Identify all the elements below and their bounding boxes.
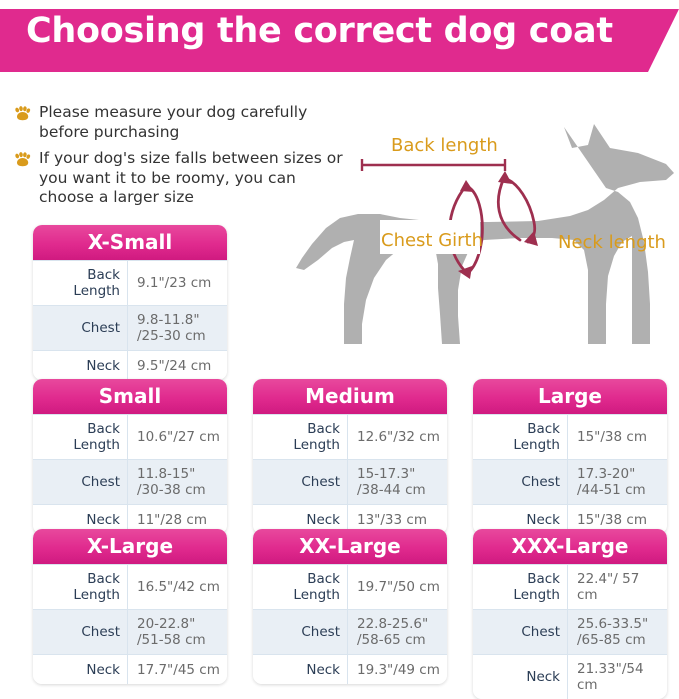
row-value: 19.3"/49 cm: [348, 655, 447, 684]
back-length-measure: [362, 159, 505, 171]
row-label: Back Length: [473, 415, 568, 459]
row-value: 17.7"/45 cm: [128, 655, 227, 684]
row-label: Chest: [473, 460, 568, 504]
row-value: 22.4"/ 57 cm: [568, 565, 667, 609]
table-row: Back Length 15"/38 cm: [473, 414, 667, 459]
row-value-line: 15-17.3": [357, 466, 426, 482]
row-label: Chest: [473, 610, 568, 654]
row-value: 12.6"/32 cm: [348, 415, 447, 459]
table-row: Chest 15-17.3" /38-44 cm: [253, 459, 447, 504]
row-label: Chest: [33, 306, 128, 350]
size-table-large: Large Back Length 15"/38 cm Chest 17.3-2…: [473, 379, 667, 534]
row-value-line: /30-38 cm: [137, 482, 206, 498]
row-value: 10.6"/27 cm: [128, 415, 227, 459]
row-label: Neck: [33, 655, 128, 684]
back-length-label: Back length: [391, 135, 498, 156]
row-value: 15-17.3" /38-44 cm: [348, 460, 447, 504]
size-table-header: X-Small: [33, 225, 227, 260]
size-table-header: XXX-Large: [473, 529, 667, 564]
size-table-header: X-Large: [33, 529, 227, 564]
row-value: 19.7"/50 cm: [348, 565, 447, 609]
size-table-xsmall: X-Small Back Length 9.1"/23 cm Chest 9.8…: [33, 225, 227, 380]
page-title: Choosing the correct dog coat: [26, 11, 613, 51]
table-row: Chest 25.6-33.5" /65-85 cm: [473, 609, 667, 654]
row-value-line: 22.8-25.6": [357, 616, 428, 632]
table-row: Neck 21.33"/54 cm: [473, 654, 667, 699]
table-row: Neck 9.5"/24 cm: [33, 350, 227, 380]
row-label: Chest: [253, 610, 348, 654]
size-table-xlarge: X-Large Back Length 16.5"/42 cm Chest 20…: [33, 529, 227, 684]
table-row: Chest 20-22.8" /51-58 cm: [33, 609, 227, 654]
row-value: 20-22.8" /51-58 cm: [128, 610, 227, 654]
neck-length-arrowhead: [498, 171, 512, 184]
size-table-header: Large: [473, 379, 667, 414]
row-value: 9.1"/23 cm: [128, 261, 227, 305]
table-row: Neck 17.7"/45 cm: [33, 654, 227, 684]
size-table-header: Medium: [253, 379, 447, 414]
row-value: 16.5"/42 cm: [128, 565, 227, 609]
table-row: Chest 22.8-25.6" /58-65 cm: [253, 609, 447, 654]
size-table-xxlarge: XX-Large Back Length 19.7"/50 cm Chest 2…: [253, 529, 447, 684]
size-table-medium: Medium Back Length 12.6"/32 cm Chest 15-…: [253, 379, 447, 534]
row-label: Back Length: [253, 415, 348, 459]
paw-print-icon: [14, 152, 31, 167]
row-label: Back Length: [33, 415, 128, 459]
size-table-small: Small Back Length 10.6"/27 cm Chest 11.8…: [33, 379, 227, 534]
table-row: Back Length 22.4"/ 57 cm: [473, 564, 667, 609]
row-value-line: /44-51 cm: [577, 482, 646, 498]
row-label: Neck: [253, 655, 348, 684]
row-value-line: 9.8-11.8": [137, 312, 206, 328]
table-row: Back Length 12.6"/32 cm: [253, 414, 447, 459]
note-text: Please measure your dog carefully before…: [39, 103, 307, 141]
table-row: Neck 19.3"/49 cm: [253, 654, 447, 684]
table-row: Back Length 9.1"/23 cm: [33, 260, 227, 305]
neck-length-label: Neck length: [558, 232, 666, 253]
chest-girth-label: Chest Girth: [381, 230, 483, 251]
dog-measurement-diagram: Back length Neck length Chest Girth: [288, 118, 679, 346]
table-row: Chest 17.3-20" /44-51 cm: [473, 459, 667, 504]
table-row: Chest 11.8-15" /30-38 cm: [33, 459, 227, 504]
table-row: Back Length 19.7"/50 cm: [253, 564, 447, 609]
row-value: 11.8-15" /30-38 cm: [128, 460, 227, 504]
row-value-line: 25.6-33.5": [577, 616, 648, 632]
row-label: Chest: [253, 460, 348, 504]
row-value-line: 17.3-20": [577, 466, 646, 482]
row-label: Neck: [473, 655, 568, 699]
row-label: Back Length: [473, 565, 568, 609]
row-value-line: /58-65 cm: [357, 632, 428, 648]
row-value: 17.3-20" /44-51 cm: [568, 460, 667, 504]
row-value-line: /38-44 cm: [357, 482, 426, 498]
row-value-line: /65-85 cm: [577, 632, 648, 648]
row-value: 22.8-25.6" /58-65 cm: [348, 610, 447, 654]
size-table-header: XX-Large: [253, 529, 447, 564]
row-label: Back Length: [253, 565, 348, 609]
table-row: Back Length 16.5"/42 cm: [33, 564, 227, 609]
row-value: 9.8-11.8" /25-30 cm: [128, 306, 227, 350]
chest-girth-arrowhead: [460, 180, 474, 192]
row-value-line: 11.8-15": [137, 466, 206, 482]
row-label: Back Length: [33, 261, 128, 305]
size-table-xxxlarge: XXX-Large Back Length 22.4"/ 57 cm Chest…: [473, 529, 667, 699]
paw-print-icon: [14, 106, 31, 121]
row-value-line: 20-22.8": [137, 616, 206, 632]
row-value: 9.5"/24 cm: [128, 351, 227, 380]
row-label: Chest: [33, 460, 128, 504]
row-label: Neck: [33, 351, 128, 380]
row-label: Chest: [33, 610, 128, 654]
row-value-line: /51-58 cm: [137, 632, 206, 648]
table-row: Chest 9.8-11.8" /25-30 cm: [33, 305, 227, 350]
row-label: Back Length: [33, 565, 128, 609]
row-value-line: /25-30 cm: [137, 328, 206, 344]
table-row: Back Length 10.6"/27 cm: [33, 414, 227, 459]
row-value: 21.33"/54 cm: [568, 655, 667, 699]
row-value: 25.6-33.5" /65-85 cm: [568, 610, 667, 654]
row-value: 15"/38 cm: [568, 415, 667, 459]
size-table-header: Small: [33, 379, 227, 414]
